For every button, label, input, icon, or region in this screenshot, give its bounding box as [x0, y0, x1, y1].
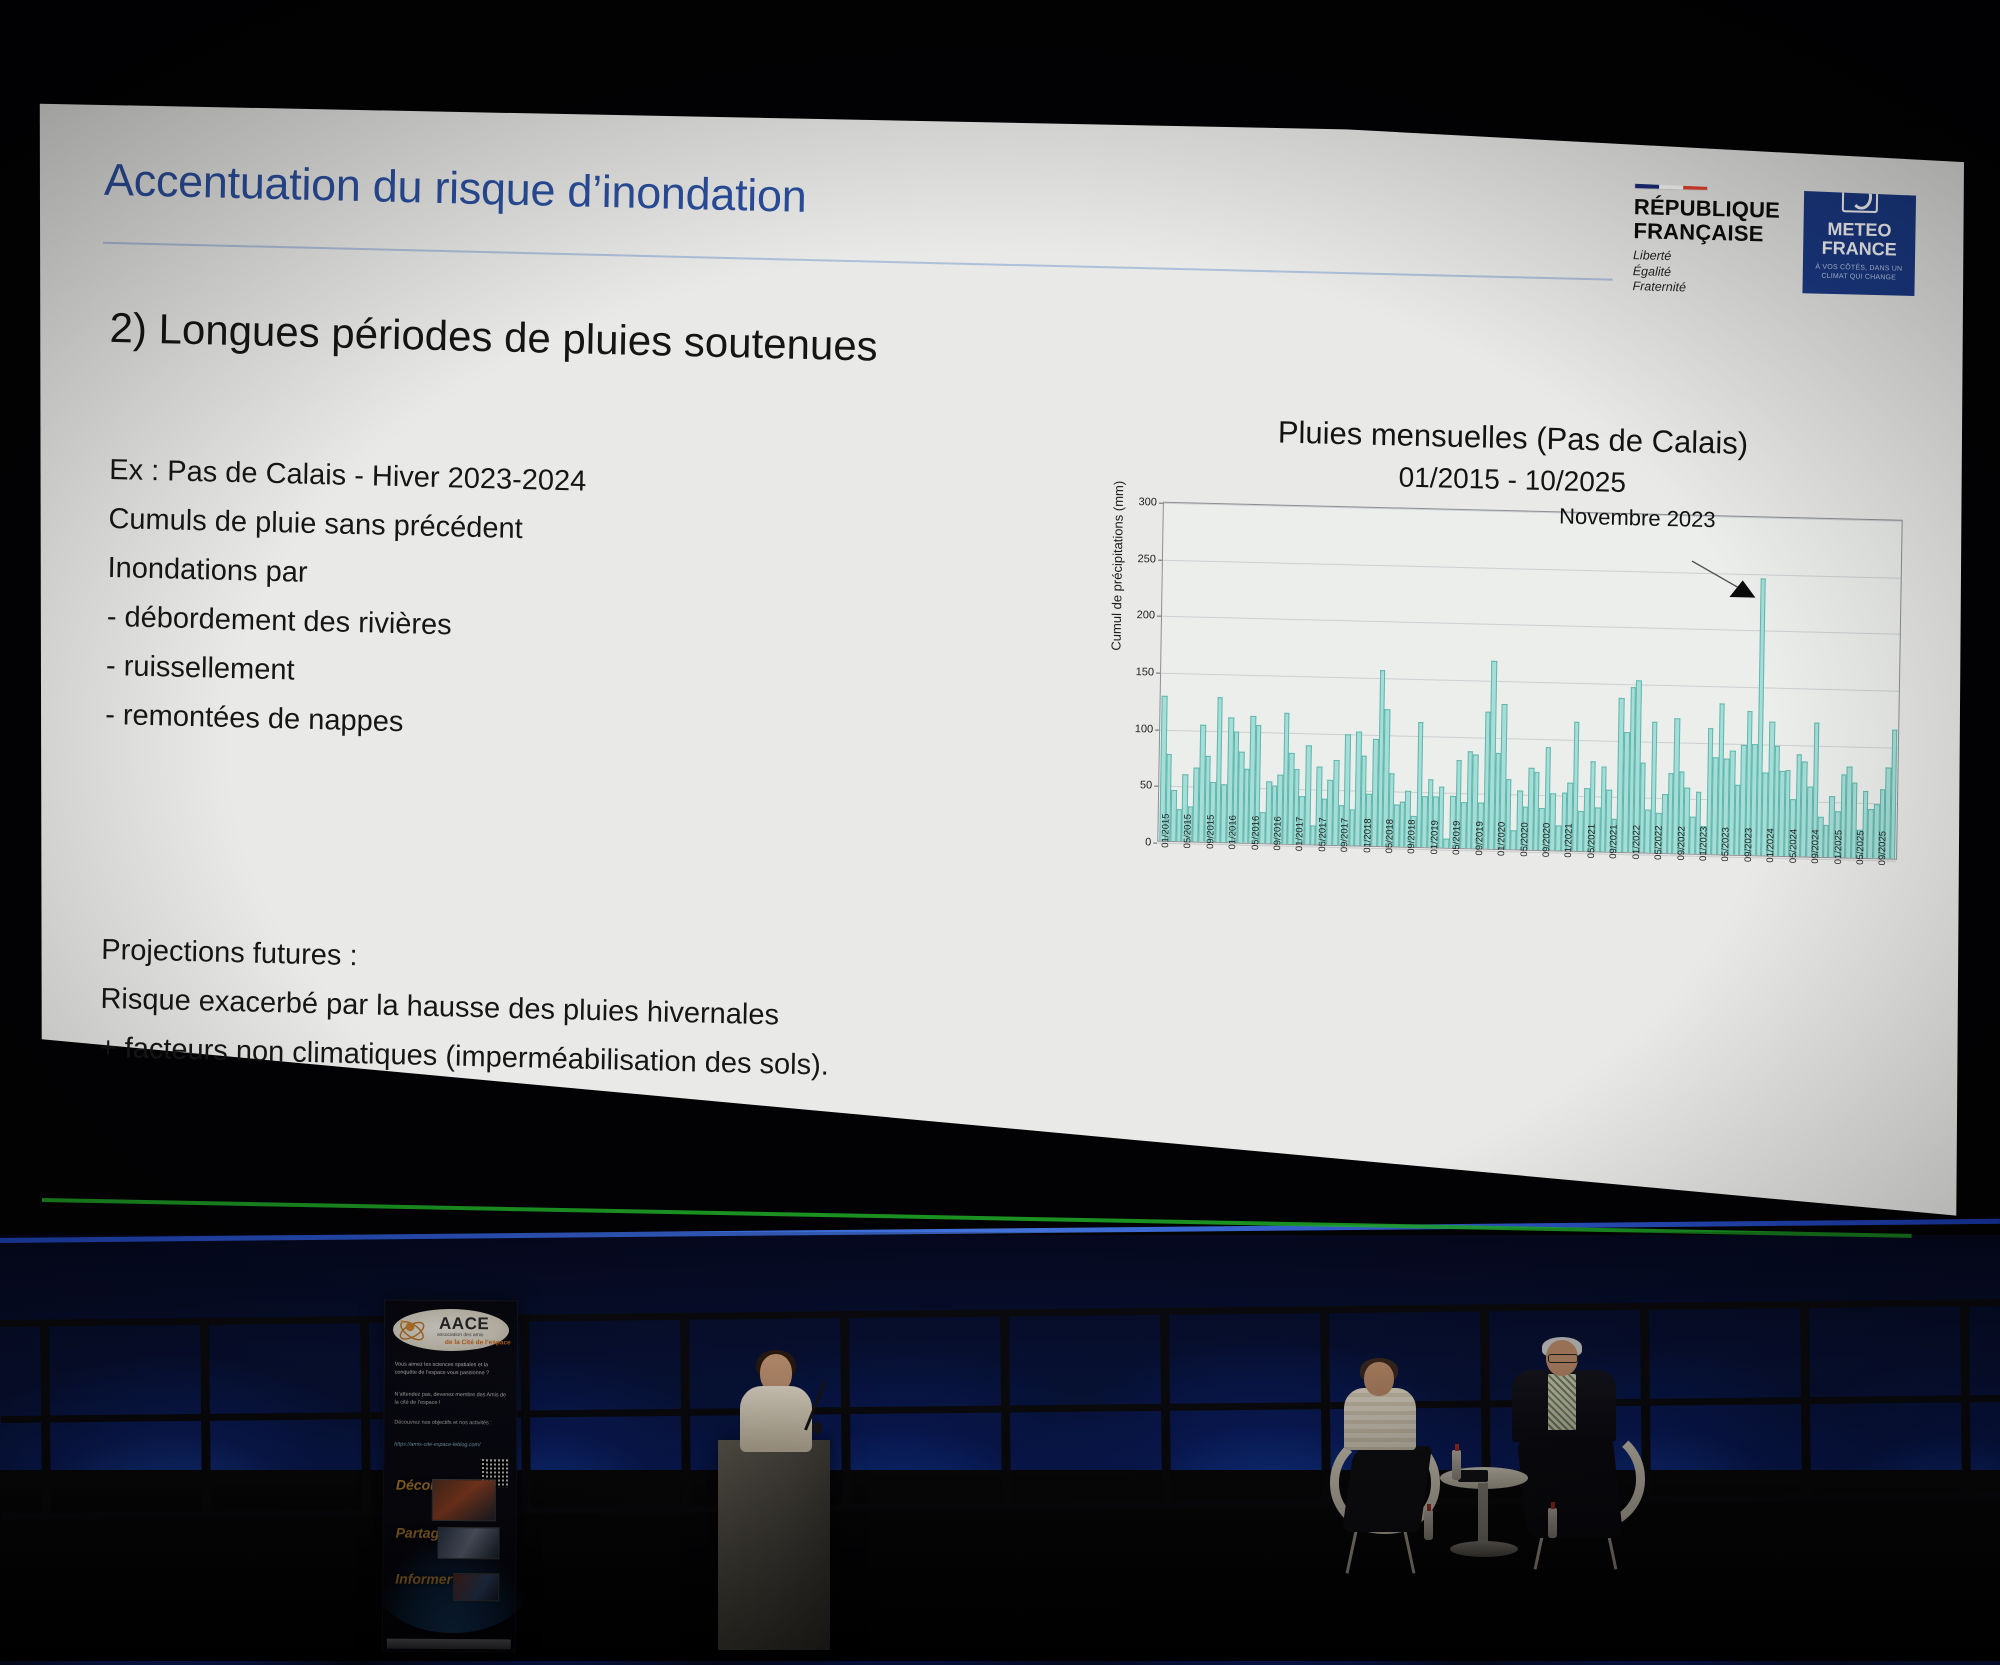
x-axis-tick: 01/2023	[1698, 827, 1710, 862]
x-axis-tick: 05/2022	[1653, 825, 1665, 860]
x-axis-tick: 01/2020	[1496, 822, 1508, 857]
y-axis-tick: 200	[1137, 609, 1156, 621]
x-axis-tick: 01/2021	[1563, 823, 1575, 858]
y-axis-tick: 0	[1145, 836, 1151, 848]
x-axis-tick: 09/2025	[1877, 831, 1889, 866]
aace-roll-up-banner: AACE association des amis de la Cité de …	[382, 1300, 518, 1653]
podium	[718, 1440, 830, 1650]
y-axis-tick: 100	[1135, 723, 1154, 735]
x-axis-tick: 09/2021	[1608, 824, 1620, 859]
rf-line2: FRANÇAISE	[1633, 219, 1781, 246]
x-axis-tick: 05/2025	[1855, 830, 1867, 865]
x-axis-tick: 01/2017	[1294, 817, 1306, 852]
slide-body-block-b: Projections futures : Risque exacerbé pa…	[99, 926, 831, 1091]
x-axis-tick: 09/2018	[1407, 819, 1419, 854]
x-axis-tick: 05/2016	[1250, 816, 1262, 851]
aace-brand-sub: association des amis	[437, 1332, 483, 1338]
annotation-arrow-icon	[1158, 503, 1903, 861]
x-axis-tick: 09/2024	[1810, 829, 1822, 864]
banner-word-informer: Informer	[395, 1571, 452, 1587]
slide-title: Accentuation du risque d’inondation	[104, 154, 807, 223]
x-axis-tick: 05/2023	[1720, 827, 1732, 862]
presentation-slide: Accentuation du risque d’inondation RÉPU…	[15, 64, 1964, 1279]
banner-paragraph-3: Découvrez nos objectifs et nos activités…	[394, 1419, 506, 1428]
banner-url: https://amis-cite-espace-leblog.com/	[394, 1441, 506, 1450]
x-axis-tick: 09/2023	[1743, 828, 1755, 863]
water-bottle	[1424, 1510, 1433, 1540]
aace-brand-cite: de la Cité de l’espace	[445, 1339, 511, 1346]
x-axis-tick: 09/2017	[1339, 818, 1351, 853]
presenter-at-podium	[736, 1354, 814, 1450]
title-divider	[103, 242, 1613, 281]
x-axis-tick: 09/2016	[1272, 816, 1284, 851]
seated-panelist-right	[1508, 1340, 1620, 1540]
x-axis-tick: 01/2015	[1160, 813, 1172, 848]
water-bottle	[1452, 1450, 1461, 1480]
auditorium-room: Accentuation du risque d’inondation RÉPU…	[0, 0, 2000, 1661]
x-axis-tick: 09/2019	[1474, 821, 1486, 856]
x-axis-tick: 01/2024	[1765, 828, 1777, 863]
x-axis-tick: 05/2015	[1182, 814, 1194, 849]
stage-guardrail	[0, 1299, 2000, 1520]
y-axis-tick: 250	[1137, 553, 1156, 565]
x-axis-tick: 05/2021	[1586, 824, 1598, 859]
x-axis-tick: 05/2024	[1788, 829, 1800, 864]
water-bottle	[1548, 1508, 1557, 1538]
x-axis-tick: 01/2022	[1631, 825, 1643, 860]
aace-swirl-icon	[397, 1315, 433, 1347]
rf-motto-fraternite: Fraternité	[1632, 279, 1780, 298]
rainfall-chart: Pluies mensuelles (Pas de Calais) 01/201…	[1110, 411, 1908, 950]
x-axis-tick: 09/2015	[1205, 814, 1217, 849]
x-axis-tick: 09/2022	[1676, 826, 1688, 861]
y-axis-tick: 300	[1138, 496, 1157, 508]
banner-paragraph-2: N’attendez pas, devenez membre des Amis …	[394, 1391, 506, 1409]
remote-control	[1458, 1470, 1488, 1482]
chart-y-axis-label: Cumul de précipitations (mm)	[1108, 481, 1126, 651]
x-axis-tick: 05/2018	[1384, 819, 1396, 854]
y-axis-tick: 50	[1140, 780, 1152, 792]
x-axis-tick: 05/2019	[1451, 821, 1463, 856]
x-axis-tick: 01/2025	[1832, 830, 1844, 865]
x-axis-tick: 01/2016	[1227, 815, 1239, 850]
chart-plot-area: 050100150200250300 Novembre 2023	[1157, 502, 1902, 860]
y-axis-tick: 150	[1136, 666, 1155, 678]
x-axis-tick: 09/2020	[1541, 823, 1553, 858]
mf-line2: FRANCE	[1822, 239, 1897, 260]
slide-heading-2: 2) Longues périodes de pluies soutenues	[109, 304, 878, 371]
seated-panelist-left	[1342, 1358, 1422, 1528]
banner-paragraph-1: Vous aimez les sciences spatiales et la …	[395, 1361, 507, 1379]
x-axis-tick: 05/2020	[1519, 822, 1531, 857]
x-axis-tick: 01/2018	[1362, 818, 1374, 853]
x-axis-tick: 01/2019	[1429, 820, 1441, 855]
x-axis-tick: 05/2017	[1317, 817, 1329, 852]
slide-body-block-a: Ex : Pas de Calais - Hiver 2023-2024 Cum…	[105, 446, 587, 752]
mf-tagline: À vos côtés, dans un climat qui change	[1803, 263, 1915, 283]
body-line: - remontées de nappes	[105, 691, 583, 752]
